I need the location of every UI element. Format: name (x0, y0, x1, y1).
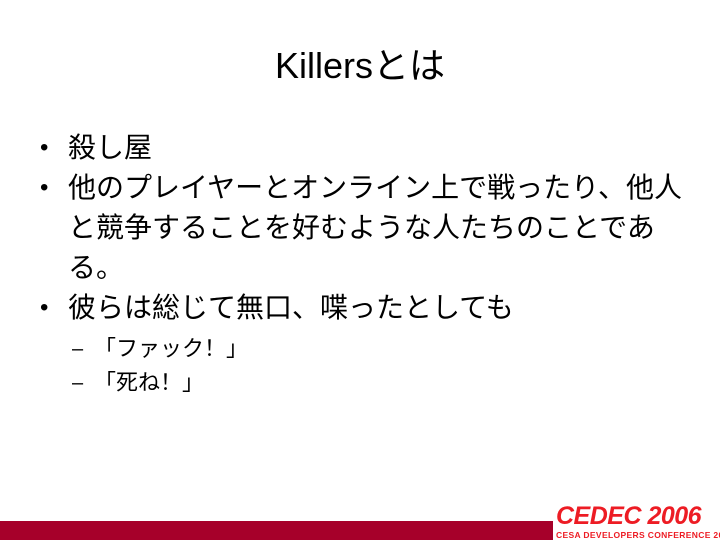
dash-marker-icon: – (64, 366, 94, 400)
list-item-label: 彼らは総じて無口、喋ったとしても (68, 288, 696, 328)
bullet-marker-icon: • (32, 288, 68, 328)
cedec-logo: CEDEC 2006 CESA DEVELOPERS CONFERENCE 20… (556, 504, 720, 540)
list-item-label: 他のプレイヤーとオンライン上で戦ったり、他人と競争することを好むような人たちのこ… (68, 168, 696, 288)
sub-list-item: – 「死ね！」 (64, 366, 696, 400)
bullet-marker-icon: • (32, 128, 68, 168)
list-item-label: 殺し屋 (68, 128, 696, 168)
footer-accent-bar (0, 521, 553, 540)
list-item: • 彼らは総じて無口、喋ったとしても (32, 288, 696, 328)
cedec-logo-subtitle: CESA DEVELOPERS CONFERENCE 2006 (556, 530, 720, 541)
list-item: • 他のプレイヤーとオンライン上で戦ったり、他人と競争することを好むような人たち… (32, 168, 696, 288)
page-title: Killersとは (0, 44, 720, 88)
sub-list-item: – 「ファック！」 (64, 332, 696, 366)
dash-marker-icon: – (64, 332, 94, 366)
presentation-slide: Killersとは • 殺し屋 • 他のプレイヤーとオンライン上で戦ったり、他人… (0, 0, 720, 540)
slide-body: • 殺し屋 • 他のプレイヤーとオンライン上で戦ったり、他人と競争することを好む… (32, 128, 696, 400)
bullet-marker-icon: • (32, 168, 68, 208)
sub-list-item-label: 「死ね！」 (94, 366, 696, 400)
sub-list: – 「ファック！」 – 「死ね！」 (64, 332, 696, 400)
sub-list-item-label: 「ファック！」 (94, 332, 696, 366)
cedec-logo-title: CEDEC 2006 (556, 504, 720, 529)
list-item: • 殺し屋 (32, 128, 696, 168)
